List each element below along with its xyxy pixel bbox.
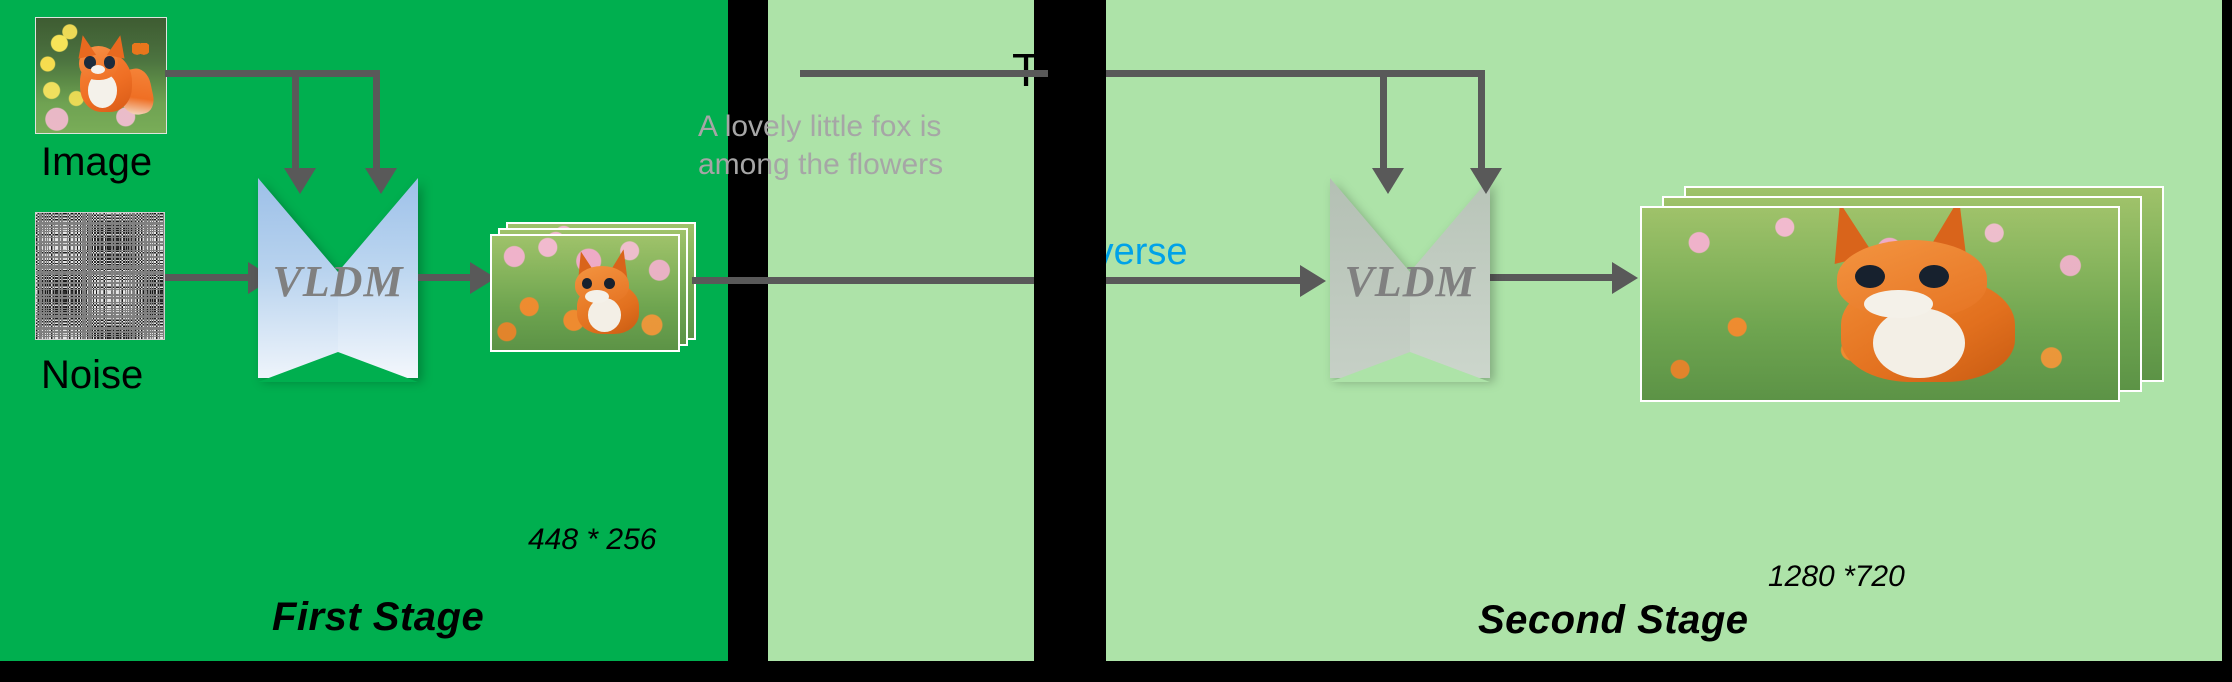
fox-eye-right — [604, 278, 615, 289]
fox-eye-left — [1855, 265, 1885, 288]
first-stage-resolution-label: 448 * 256 — [528, 523, 656, 556]
text-branch-right-vline — [1478, 70, 1485, 174]
fox-snout — [1864, 290, 1933, 318]
prompt-text: A lovely little fox is among the flowers — [698, 108, 1038, 183]
fox-ear-left — [74, 34, 96, 59]
video-frame — [490, 234, 680, 352]
vldm-label-first-stage: VLDM — [258, 256, 418, 307]
fox-eye-right — [104, 56, 116, 69]
vldm-bottom-notch-first — [258, 348, 418, 382]
arrow-right-icon — [1300, 265, 1326, 297]
second-stage-resolution-label: 1280 *720 — [1768, 560, 1905, 593]
fox-chest — [588, 298, 621, 332]
video-frame — [1640, 206, 2120, 402]
fox-figure — [1823, 216, 2051, 393]
gaussian-noise-thumbnail — [35, 212, 165, 340]
text-branch-top-line-2 — [1387, 70, 1485, 77]
noise-to-vldm-line — [165, 274, 250, 281]
fox-eye-right — [1919, 265, 1949, 288]
fox-image-thumbnail — [35, 17, 167, 134]
video-frame-stack-small — [490, 222, 700, 352]
image-input-label: Image — [41, 140, 152, 184]
first-stage-title: First Stage — [272, 595, 484, 639]
vldm-bottom-notch-second — [1330, 348, 1490, 382]
arrow-down-icon — [1470, 168, 1502, 194]
text-to-split-line-right — [1106, 70, 1294, 77]
panel-divider — [1034, 0, 1106, 661]
text-to-split-line — [800, 70, 1048, 77]
fox-scene-art — [36, 18, 166, 133]
fox-chest — [1873, 308, 1964, 379]
diagram-canvas: Image Noise — [0, 0, 2232, 682]
image-to-split-line — [165, 70, 380, 77]
fox-eye-left — [582, 278, 593, 289]
video-frame-stack-large — [1640, 186, 2210, 406]
noise-input-label: Noise — [41, 353, 143, 397]
vldm-to-output-line — [418, 274, 478, 281]
image-branch-right-vline — [373, 70, 380, 174]
text-branch-left-vline — [1380, 70, 1387, 174]
image-branch-left-vline — [292, 70, 299, 174]
vldm-label-second-stage: VLDM — [1330, 256, 1490, 307]
arrow-down-icon — [1372, 168, 1404, 194]
text-branch-top-line — [1294, 70, 1387, 77]
reverse-flow-line — [692, 277, 1312, 284]
arrow-right-icon — [1612, 262, 1638, 294]
butterfly-icon — [132, 43, 149, 57]
vldm2-to-output-line — [1490, 274, 1620, 281]
fox-figure — [570, 254, 652, 338]
second-stage-title: Second Stage — [1478, 598, 1749, 642]
